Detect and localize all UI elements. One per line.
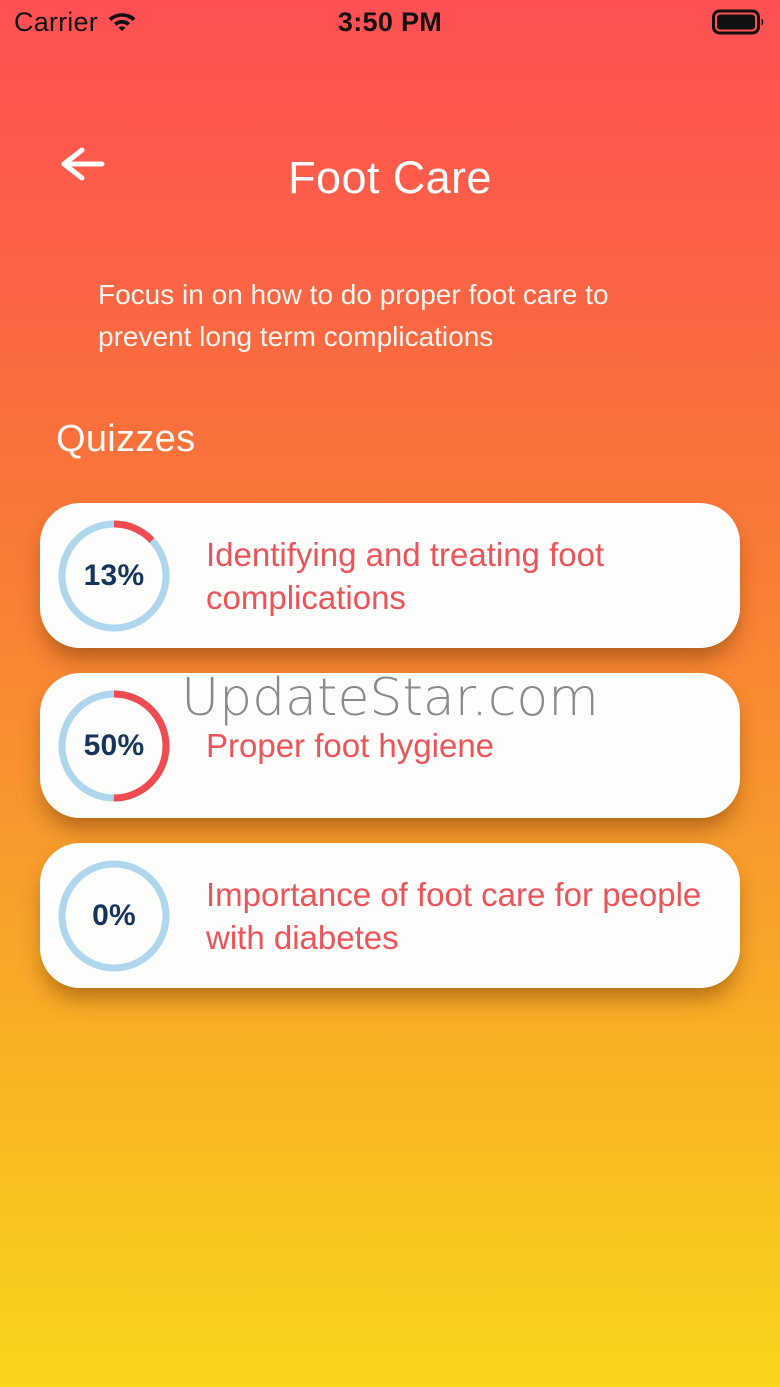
- progress-ring: 0%: [58, 860, 170, 972]
- progress-percent-label: 13%: [58, 520, 170, 632]
- progress-percent-label: 50%: [58, 690, 170, 802]
- page-title: Foot Care: [0, 152, 780, 204]
- section-title-quizzes: Quizzes: [56, 418, 195, 461]
- progress-percent-label: 0%: [58, 860, 170, 972]
- quiz-card[interactable]: 13% Identifying and treating foot compli…: [40, 503, 740, 648]
- quiz-title: Importance of foot care for people with …: [206, 873, 712, 959]
- page-subtitle: Focus in on how to do proper foot care t…: [98, 274, 698, 358]
- quiz-list: 13% Identifying and treating foot compli…: [40, 503, 740, 1013]
- progress-ring: 50%: [58, 690, 170, 802]
- quiz-title: Proper foot hygiene: [206, 724, 712, 767]
- battery-full-icon: [712, 9, 766, 35]
- app-screen: Carrier 3:50 PM Foot Care Focus i: [0, 0, 780, 1387]
- quiz-card[interactable]: 50% Proper foot hygiene: [40, 673, 740, 818]
- clock-time: 3:50 PM: [0, 7, 780, 38]
- status-bar: Carrier 3:50 PM: [0, 0, 780, 44]
- quiz-title: Identifying and treating foot complicati…: [206, 533, 712, 619]
- quiz-card[interactable]: 0% Importance of foot care for people wi…: [40, 843, 740, 988]
- progress-ring: 13%: [58, 520, 170, 632]
